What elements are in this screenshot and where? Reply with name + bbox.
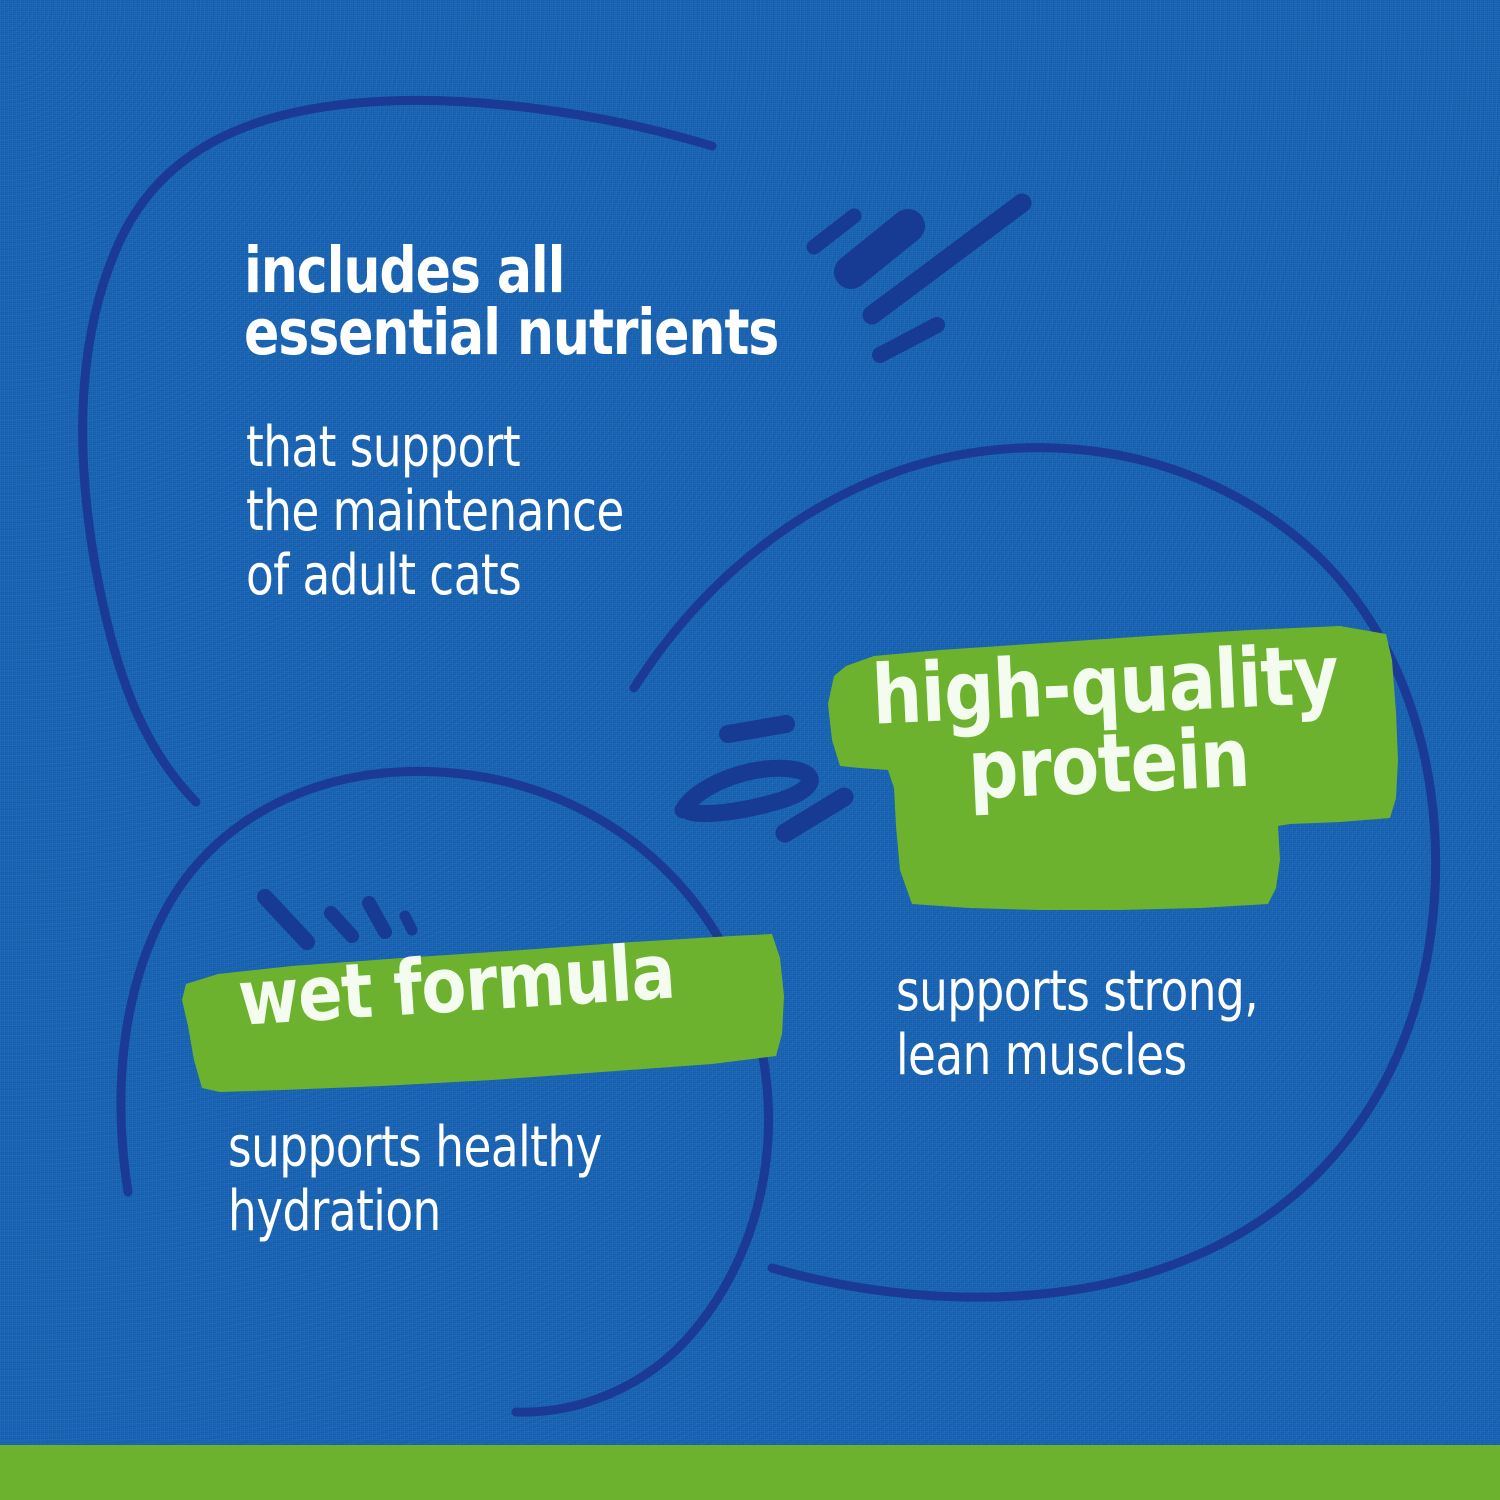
high-quality-protein-label: high-quality protein [866, 636, 1348, 815]
nutrients-headline: includes all essential nutrients [244, 240, 888, 365]
wet-body: supports healthy hydration [228, 1116, 651, 1244]
nutrients-body: that support the maintenance of adult ca… [246, 416, 750, 607]
protein-body: supports strong, lean muscles [896, 960, 1310, 1088]
poster-canvas: includes all essential nutrients that su… [0, 0, 1500, 1500]
footer-green-bar [0, 1445, 1500, 1500]
